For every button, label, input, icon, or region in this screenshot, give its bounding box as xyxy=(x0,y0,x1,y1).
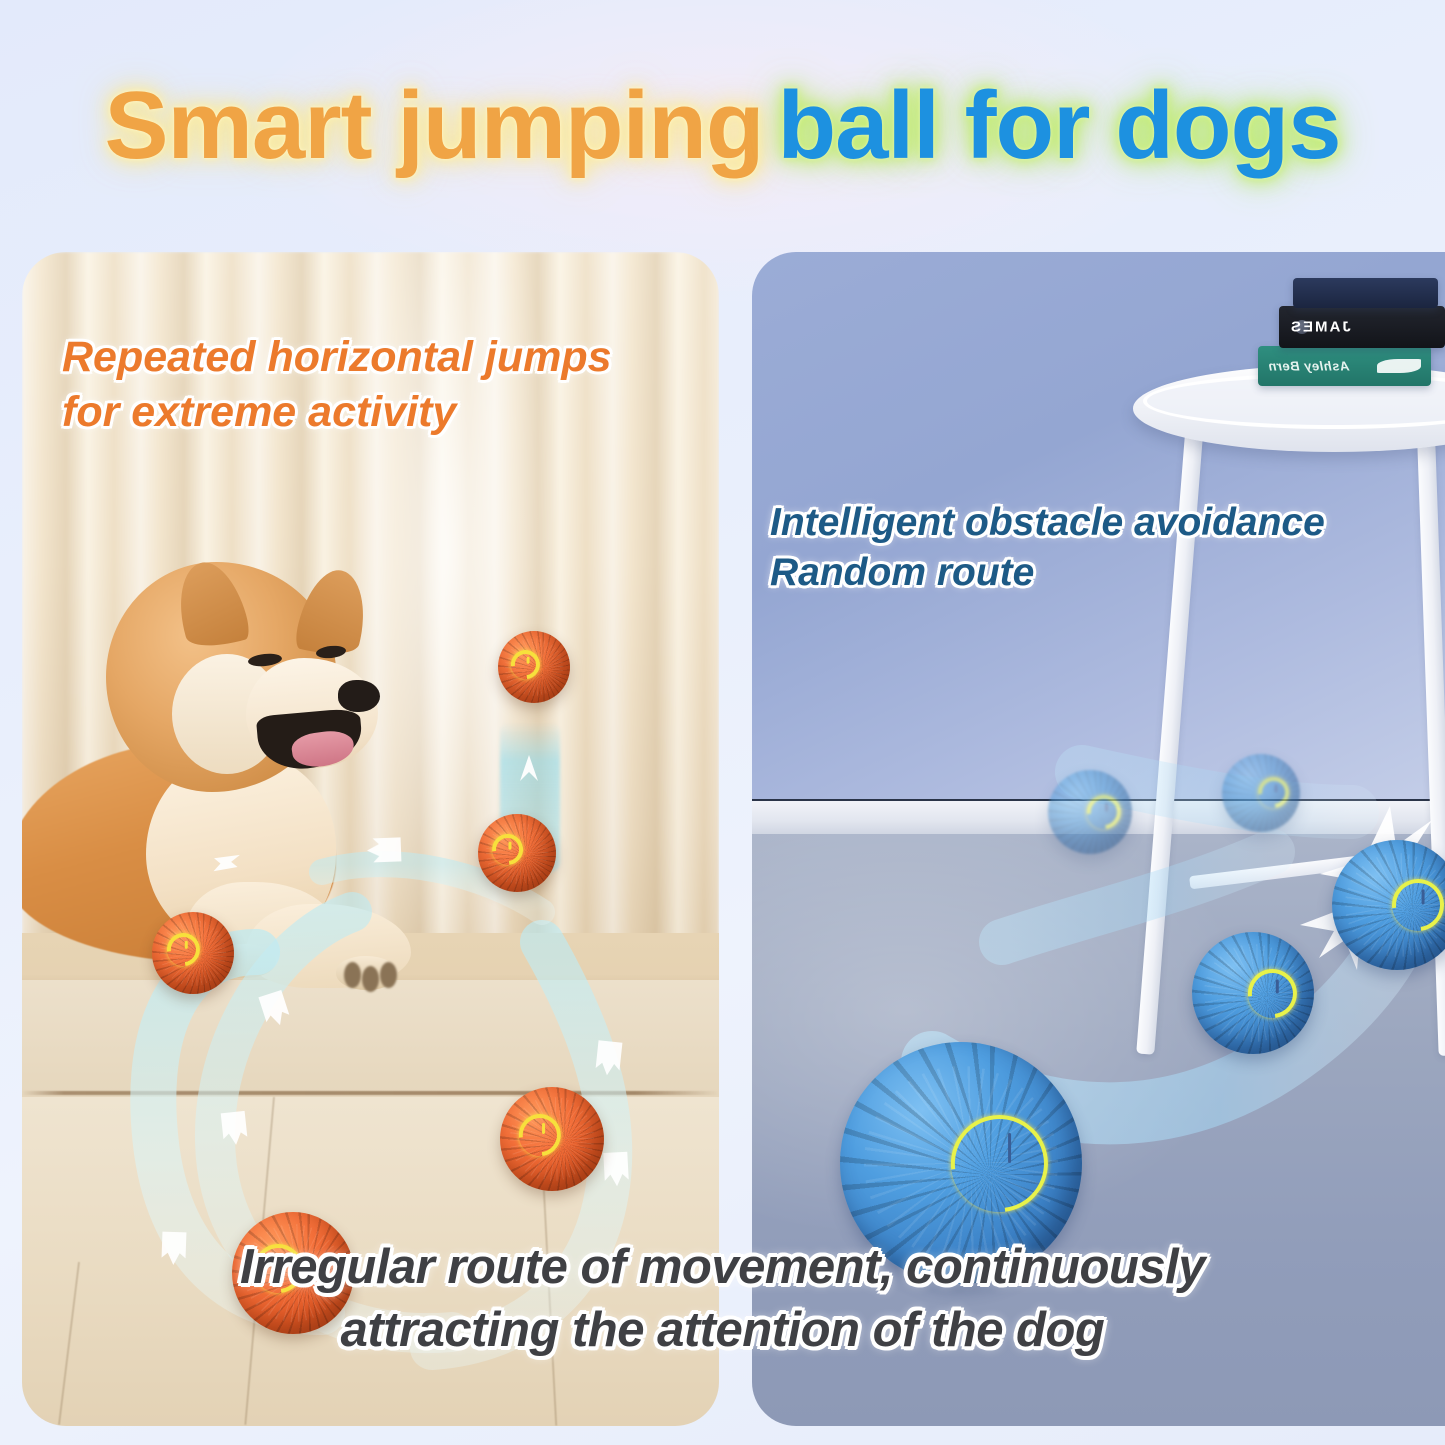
title-segment-smart-jumping: Smart jumping xyxy=(104,72,763,179)
smart-ball-blue-ghost[interactable] xyxy=(1222,754,1300,832)
caption-bottom: Irregular route of movement, continuousl… xyxy=(0,1236,1445,1361)
poster-canvas: Smart jumpingball for dogs xyxy=(0,0,1445,1445)
power-icon-stem xyxy=(1421,890,1424,905)
smart-ball-orange[interactable] xyxy=(498,631,570,703)
title-segment-ball-for-dogs: ball for dogs xyxy=(778,72,1341,179)
smart-ball-orange[interactable] xyxy=(152,912,234,994)
power-icon-stem xyxy=(1105,803,1108,812)
book-green-label: Ashley Bern xyxy=(1268,358,1349,373)
book-black: JAMES xyxy=(1279,306,1445,348)
dog-head xyxy=(106,562,336,792)
book-navy xyxy=(1293,278,1439,309)
power-icon-stem xyxy=(1008,1132,1011,1162)
power-icon-stem xyxy=(1275,785,1278,793)
dog-ear xyxy=(167,555,252,655)
power-icon-stem xyxy=(526,657,529,664)
book-green: Ashley Bern xyxy=(1258,346,1431,386)
caption-left: Repeated horizontal jumps for extreme ac… xyxy=(62,330,702,440)
dog-toe xyxy=(380,962,397,988)
power-icon-stem xyxy=(542,1123,545,1134)
smart-ball-orange[interactable] xyxy=(478,814,556,892)
dog-nose xyxy=(338,680,380,712)
power-icon-stem xyxy=(184,941,187,949)
rug-edge xyxy=(22,1091,719,1095)
dog-toe xyxy=(362,966,379,992)
smart-ball-blue-ghost[interactable] xyxy=(1048,770,1132,854)
book-black-label: JAMES xyxy=(1289,319,1351,336)
page-title: Smart jumpingball for dogs xyxy=(0,76,1445,177)
power-icon-stem xyxy=(509,842,512,850)
book-decoration xyxy=(1377,359,1421,373)
smart-ball-orange[interactable] xyxy=(500,1087,604,1191)
dog-toe xyxy=(344,962,361,988)
caption-right: Intelligent obstacle avoidance Random ro… xyxy=(770,498,1445,598)
smart-ball-blue[interactable] xyxy=(1192,932,1314,1054)
power-icon-stem xyxy=(1276,979,1279,993)
